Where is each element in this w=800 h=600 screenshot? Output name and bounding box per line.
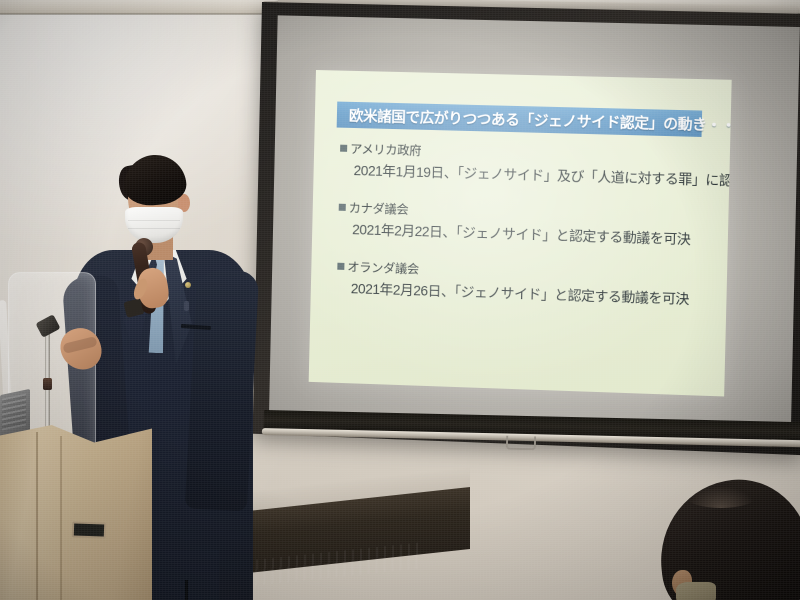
audience-face-mask-icon — [676, 582, 716, 600]
square-bullet-icon — [340, 144, 347, 151]
podium-cable-slot — [72, 521, 107, 538]
slide-block-heading: アメリカ政府 — [350, 139, 421, 159]
slide-title-text: 欧米諸国で広がりつつある「ジェノサイド認定」の動き・・・ — [337, 104, 732, 136]
lapel-badge-icon — [184, 301, 189, 311]
presentation-photo-scene: 欧米諸国で広がりつつある「ジェノサイド認定」の動き・・・ アメリカ政府 2021… — [0, 0, 800, 600]
slide-title-bar: 欧米諸国で広がりつつある「ジェノサイド認定」の動き・・・ — [337, 102, 703, 137]
slide-block-heading: カナダ議会 — [349, 198, 409, 218]
slide-block-heading: オランダ議会 — [347, 257, 419, 277]
screen-pull-handle-icon — [506, 436, 536, 451]
laptop-keyboard — [2, 393, 26, 430]
face-mask-pleat — [128, 228, 180, 229]
square-bullet-icon — [337, 262, 344, 269]
podium — [0, 425, 152, 600]
slide-block: アメリカ政府 2021年1月19日、「ジェノサイド」及び「人道に対する罪」に認定 — [339, 139, 717, 189]
slide-bullet-list: アメリカ政府 2021年1月19日、「ジェノサイド」及び「人道に対する罪」に認定… — [336, 139, 717, 328]
slide-block: オランダ議会 2021年2月26日、「ジェノサイド」と認定する動議を可決 — [337, 257, 715, 309]
projection-screen: 欧米諸国で広がりつつある「ジェノサイド認定」の動き・・・ アメリカ政府 2021… — [258, 0, 800, 448]
slide-block: カナダ議会 2021年2月22日、「ジェノサイド」と認定する動議を可決 — [338, 198, 716, 249]
lapel-pin-icon — [185, 282, 191, 288]
face-mask-pleat — [128, 220, 180, 221]
gooseneck-microphone-band — [43, 378, 52, 390]
square-bullet-icon — [339, 203, 346, 210]
presenter-right-arm — [185, 269, 259, 512]
podium-panel-seam — [36, 432, 38, 600]
podium-panel-seam — [60, 436, 62, 600]
audience-hair-highlight — [686, 486, 756, 508]
face-mask-icon — [125, 207, 183, 243]
projected-slide: 欧米諸国で広がりつつある「ジェノサイド認定」の動き・・・ アメリカ政府 2021… — [309, 70, 732, 396]
presenter-trouser-seam — [185, 580, 188, 600]
